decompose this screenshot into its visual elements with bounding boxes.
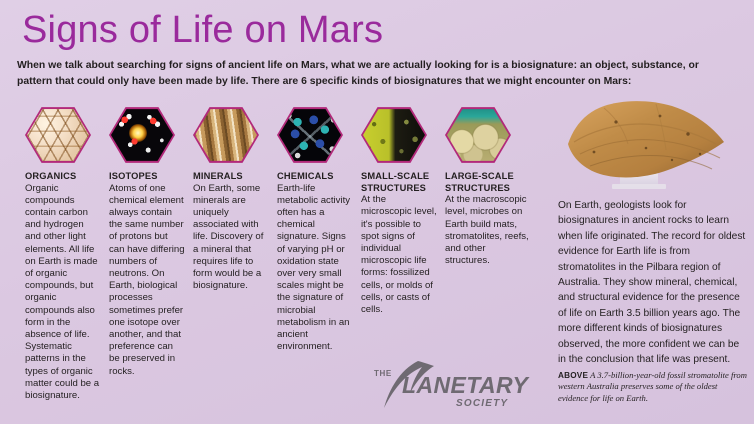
intro-paragraph: When we talk about searching for signs o… [17,58,733,89]
column-small-scale-structures: SMALL-SCALE STRUCTURES At the microscopi… [361,106,445,402]
column-title: SMALL-SCALE STRUCTURES [361,171,445,194]
column-body: Earth-life metabolic activity often has … [277,183,353,354]
svg-text:LANETARY: LANETARY [402,372,531,398]
hexagon-organic-molecules-icon [25,106,91,164]
infographic-poster: Signs of Life on Mars When we talk about… [0,0,754,424]
hexagon-banded-rock-icon [193,106,259,164]
column-title: ORGANICS [25,171,109,183]
column-title: CHEMICALS [277,171,361,183]
column-minerals: MINERALS On Earth, some minerals are uni… [193,106,277,402]
column-title: ISOTOPES [109,171,193,183]
column-large-scale-structures: LARGE-SCALE STRUCTURES At the macroscopi… [445,106,537,402]
biosignature-columns: ORGANICS Organic compounds contain carbo… [25,106,550,402]
photo-caption: ABOVE A 3.7-billion-year-old fossil stro… [558,370,748,404]
column-body: At the macroscopic level, microbes on Ea… [445,194,529,267]
hexagon-microscopy-icon [361,106,427,164]
column-title: LARGE-SCALE STRUCTURES [445,171,537,194]
column-title: MINERALS [193,171,277,183]
column-body: At the microscopic level, it's possible … [361,194,437,316]
column-isotopes: ISOTOPES Atoms of one chemical element a… [109,106,193,402]
column-body: On Earth, some minerals are uniquely ass… [193,183,269,293]
caption-label: ABOVE [558,371,588,380]
column-chemicals: CHEMICALS Earth-life metabolic activity … [277,106,361,402]
column-body: Organic compounds contain carbon and hyd… [25,183,101,403]
planetary-society-logo: THE LANETARY SOCIETY [372,360,532,412]
hexagon-stromatolite-domes-icon [445,106,511,164]
svg-text:THE: THE [374,369,392,378]
hexagon-molecule-diagram-icon [277,106,343,164]
column-body: Atoms of one chemical element always con… [109,183,185,378]
column-organics: ORGANICS Organic compounds contain carbo… [25,106,109,402]
fossil-stromatolite-photo [560,96,746,194]
hexagon-atomic-nuclei-icon [109,106,175,164]
svg-text:SOCIETY: SOCIETY [456,398,508,409]
right-panel-body: On Earth, geologists look for biosignatu… [558,198,748,367]
page-title: Signs of Life on Mars [22,8,383,52]
